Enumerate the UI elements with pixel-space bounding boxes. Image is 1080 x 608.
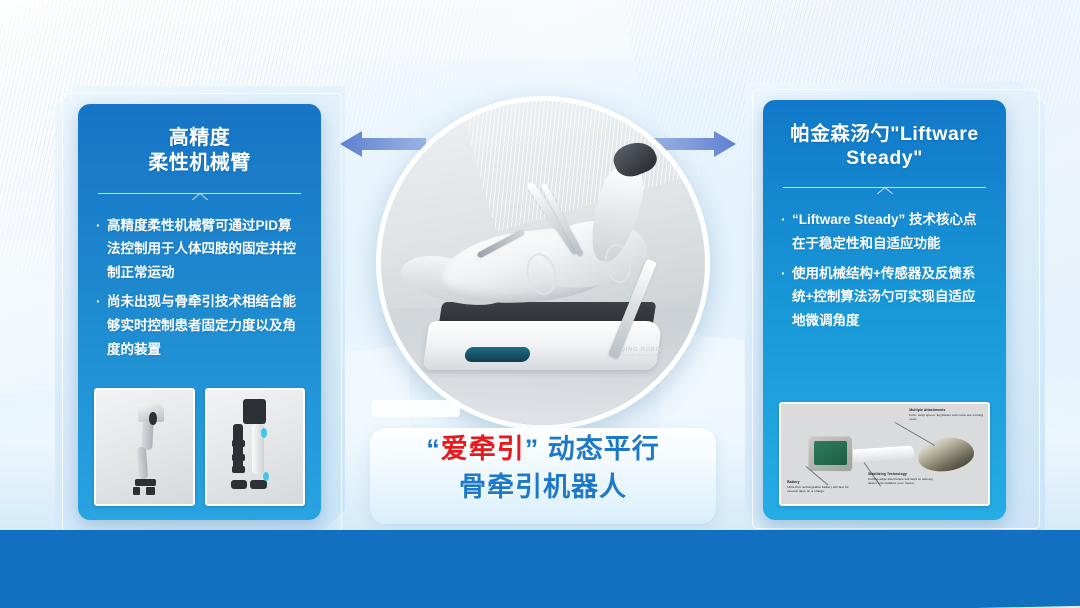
left-card-thumbnail-row (94, 388, 305, 506)
list-item: · 使用机械结构+传感器及反馈系统+控制算法汤勺可实现自适应地微调角度 (781, 262, 988, 333)
device-logo-subtext: Smart Medical Equipment (620, 353, 666, 357)
callout-sub: Ultra-thin rechargeable battery will las… (787, 485, 853, 493)
left-info-card[interactable]: 高精度 柔性机械臂 · 高精度柔性机械臂可通过PID算法控制用于人体四肢的固定并… (78, 104, 321, 520)
callout-label: Stabilizing Technology (868, 472, 907, 476)
callout-multiple-attachments: Multiple Attachments Fork, soup spoon, k… (909, 408, 984, 421)
photo-hatch-texture (463, 96, 710, 232)
right-card-title-line1: 帕金森汤勺"Liftware (781, 122, 988, 146)
device-logo: QING ROBOT Smart Medical Equipment (620, 347, 667, 357)
left-card-title-line1: 高精度 (96, 126, 303, 151)
caption-quote-close: ” (525, 434, 540, 464)
right-card-thumbnail-row: Multiple Attachments Fork, soup spoon, k… (779, 402, 990, 506)
bullet-text: 尚未出现与骨牵引技术相结合能够实时控制患者固定力度以及角度的装置 (107, 290, 303, 361)
left-card-divider (98, 190, 301, 204)
list-item: · 高精度柔性机械臂可通过PID算法控制用于人体四肢的固定并控制正常运动 (96, 214, 303, 285)
page-title: “爱牵引” 动态平行 骨牵引机器人 (370, 430, 716, 507)
bullet-text: “Liftware Steady” 技术核心点在于稳定性和自适应功能 (792, 208, 988, 255)
callout-label: Battery (787, 480, 799, 484)
list-item: · “Liftware Steady” 技术核心点在于稳定性和自适应功能 (781, 208, 988, 255)
caption-line1-rest: 动态平行 (539, 434, 660, 464)
left-card-title: 高精度 柔性机械臂 (94, 122, 305, 176)
photo-bed-accent-strip (464, 347, 531, 362)
caption-quote-open: “ (426, 434, 441, 464)
slide-root: 高精度 柔性机械臂 · 高精度柔性机械臂可通过PID算法控制用于人体四肢的固定并… (0, 0, 1080, 608)
list-item: · 尚未出现与骨牵引技术相结合能够实时控制患者固定力度以及角度的装置 (96, 290, 303, 361)
left-card-bullet-list: · 高精度柔性机械臂可通过PID算法控制用于人体四肢的固定并控制正常运动 · 尚… (94, 214, 305, 362)
right-card-title-line2: Steady" (781, 146, 988, 170)
bullet-marker: · (781, 208, 792, 255)
thumbnail-liftware-steady-spoon[interactable]: Multiple Attachments Fork, soup spoon, k… (779, 402, 990, 506)
bullet-marker: · (96, 214, 107, 285)
callout-sub: Cutting-edge electronics will work to ac… (868, 477, 943, 485)
bullet-marker: · (96, 290, 107, 361)
left-card-title-line2: 柔性机械臂 (96, 151, 303, 176)
bullet-marker: · (781, 262, 792, 333)
right-card-title: 帕金森汤勺"Liftware Steady" (779, 118, 990, 170)
spoon-circuit-board (814, 441, 847, 465)
chevron-down-icon (877, 184, 892, 194)
callout-label: Multiple Attachments (909, 408, 945, 412)
caption-line2: 骨牵引机器人 (370, 468, 716, 506)
right-info-card[interactable]: 帕金森汤勺"Liftware Steady" · “Liftware Stead… (763, 100, 1006, 520)
callout-stabilizing-technology: Stabilizing Technology Cutting-edge elec… (868, 472, 943, 485)
chevron-down-icon (192, 190, 207, 200)
center-photo-bone-traction-robot[interactable]: QING ROBOT Smart Medical Equipment (376, 96, 710, 430)
bottom-banner (0, 530, 1080, 608)
banner-fill (0, 530, 1080, 608)
thumbnail-exoskeleton-full-body-suit[interactable] (205, 388, 306, 506)
arrow-left-icon (340, 131, 426, 157)
bullet-text: 使用机械结构+传感器及反馈系统+控制算法汤勺可实现自适应地微调角度 (792, 262, 988, 333)
bullet-text: 高精度柔性机械臂可通过PID算法控制用于人体四肢的固定并控制正常运动 (107, 214, 303, 285)
decorative-pill (372, 400, 460, 417)
caption-highlight: 爱牵引 (441, 434, 525, 464)
right-card-bullet-list: · “Liftware Steady” 技术核心点在于稳定性和自适应功能 · 使… (779, 208, 990, 332)
right-card-divider (783, 184, 986, 198)
thumbnail-exoskeleton-leg-brace[interactable] (94, 388, 195, 506)
callout-sub: Fork, soup spoon, keyholder and more are… (909, 413, 984, 421)
callout-battery: Battery Ultra-thin rechargeable battery … (787, 480, 853, 493)
